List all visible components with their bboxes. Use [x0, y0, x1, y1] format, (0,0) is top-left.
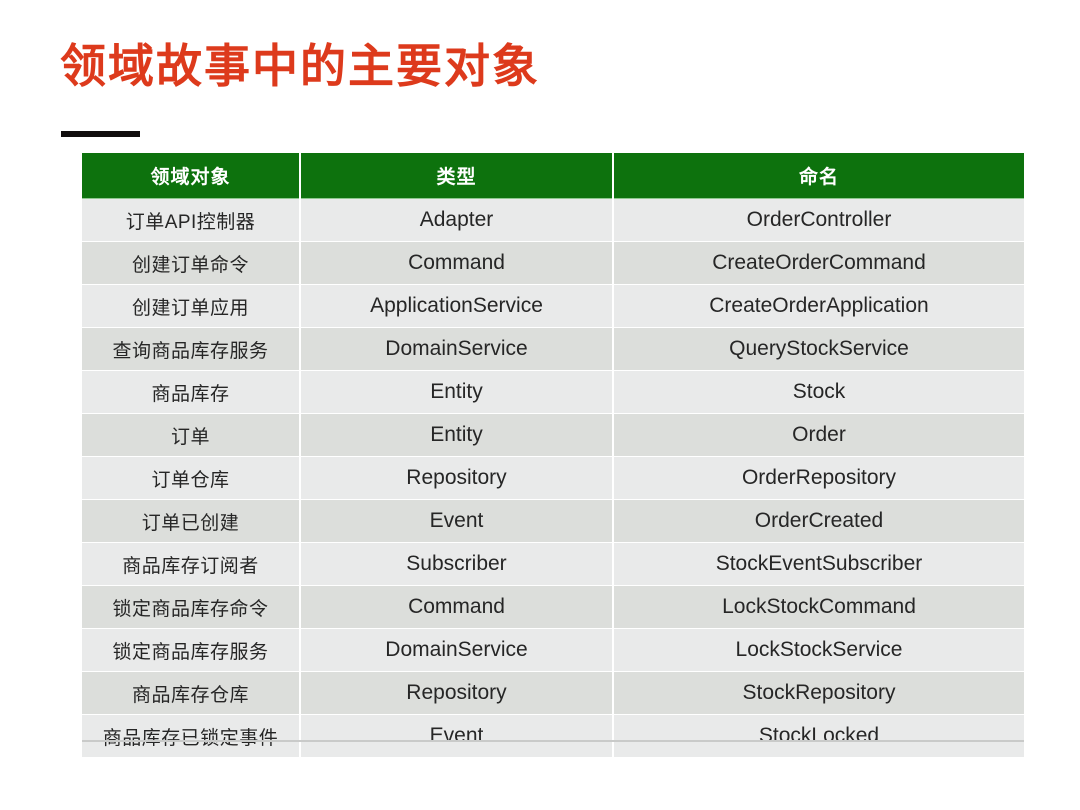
table-row: 商品库存仓库 Repository StockRepository — [82, 672, 1024, 715]
table-row: 订单仓库 Repository OrderRepository — [82, 457, 1024, 500]
cell-name: CreateOrderApplication — [613, 285, 1024, 328]
domain-objects-table: 领域对象 类型 命名 订单API控制器 Adapter OrderControl… — [82, 153, 1024, 758]
table-row: 锁定商品库存命令 Command LockStockCommand — [82, 586, 1024, 629]
table-row: 锁定商品库存服务 DomainService LockStockService — [82, 629, 1024, 672]
cell-name: StockRepository — [613, 672, 1024, 715]
cell-domain: 订单已创建 — [82, 500, 300, 543]
cell-domain: 商品库存已锁定事件 — [82, 715, 300, 758]
cell-type: DomainService — [300, 328, 613, 371]
page-title: 领域故事中的主要对象 — [60, 40, 540, 93]
cell-name: CreateOrderCommand — [613, 242, 1024, 285]
table-body: 订单API控制器 Adapter OrderController 创建订单命令 … — [82, 199, 1024, 758]
cell-type: Command — [300, 586, 613, 629]
cell-type: Repository — [300, 457, 613, 500]
table-header: 领域对象 类型 命名 — [82, 153, 1024, 199]
table-header-row: 领域对象 类型 命名 — [82, 153, 1024, 199]
cell-name: OrderController — [613, 199, 1024, 242]
cell-type: Adapter — [300, 199, 613, 242]
table-row: 订单 Entity Order — [82, 414, 1024, 457]
cell-name: Stock — [613, 371, 1024, 414]
cell-type: Entity — [300, 371, 613, 414]
cell-name: Order — [613, 414, 1024, 457]
cell-domain: 创建订单命令 — [82, 242, 300, 285]
cell-type: Entity — [300, 414, 613, 457]
table-row: 订单已创建 Event OrderCreated — [82, 500, 1024, 543]
column-header-domain: 领域对象 — [82, 153, 300, 199]
cell-name: LockStockCommand — [613, 586, 1024, 629]
cell-domain: 订单API控制器 — [82, 199, 300, 242]
column-header-name: 命名 — [613, 153, 1024, 199]
table-row: 创建订单应用 ApplicationService CreateOrderApp… — [82, 285, 1024, 328]
table-row: 商品库存订阅者 Subscriber StockEventSubscriber — [82, 543, 1024, 586]
column-header-type: 类型 — [300, 153, 613, 199]
cell-domain: 商品库存订阅者 — [82, 543, 300, 586]
table-row: 查询商品库存服务 DomainService QueryStockService — [82, 328, 1024, 371]
table-row: 商品库存 Entity Stock — [82, 371, 1024, 414]
cell-domain: 商品库存仓库 — [82, 672, 300, 715]
table-row: 订单API控制器 Adapter OrderController — [82, 199, 1024, 242]
cell-name: QueryStockService — [613, 328, 1024, 371]
title-underline-rule — [61, 131, 140, 137]
cell-name: OrderRepository — [613, 457, 1024, 500]
cell-type: Event — [300, 500, 613, 543]
cell-type: Subscriber — [300, 543, 613, 586]
cell-domain: 锁定商品库存命令 — [82, 586, 300, 629]
cell-type: Repository — [300, 672, 613, 715]
cell-domain: 订单 — [82, 414, 300, 457]
table-row: 创建订单命令 Command CreateOrderCommand — [82, 242, 1024, 285]
cell-type: DomainService — [300, 629, 613, 672]
table-bottom-border — [82, 740, 1024, 742]
cell-name: StockEventSubscriber — [613, 543, 1024, 586]
cell-type: Command — [300, 242, 613, 285]
cell-domain: 订单仓库 — [82, 457, 300, 500]
cell-name: LockStockService — [613, 629, 1024, 672]
cell-domain: 商品库存 — [82, 371, 300, 414]
cell-name: OrderCreated — [613, 500, 1024, 543]
table-row: 商品库存已锁定事件 Event StockLocked — [82, 715, 1024, 758]
cell-domain: 锁定商品库存服务 — [82, 629, 300, 672]
cell-domain: 创建订单应用 — [82, 285, 300, 328]
cell-type: Event — [300, 715, 613, 758]
cell-domain: 查询商品库存服务 — [82, 328, 300, 371]
cell-type: ApplicationService — [300, 285, 613, 328]
cell-name: StockLocked — [613, 715, 1024, 758]
